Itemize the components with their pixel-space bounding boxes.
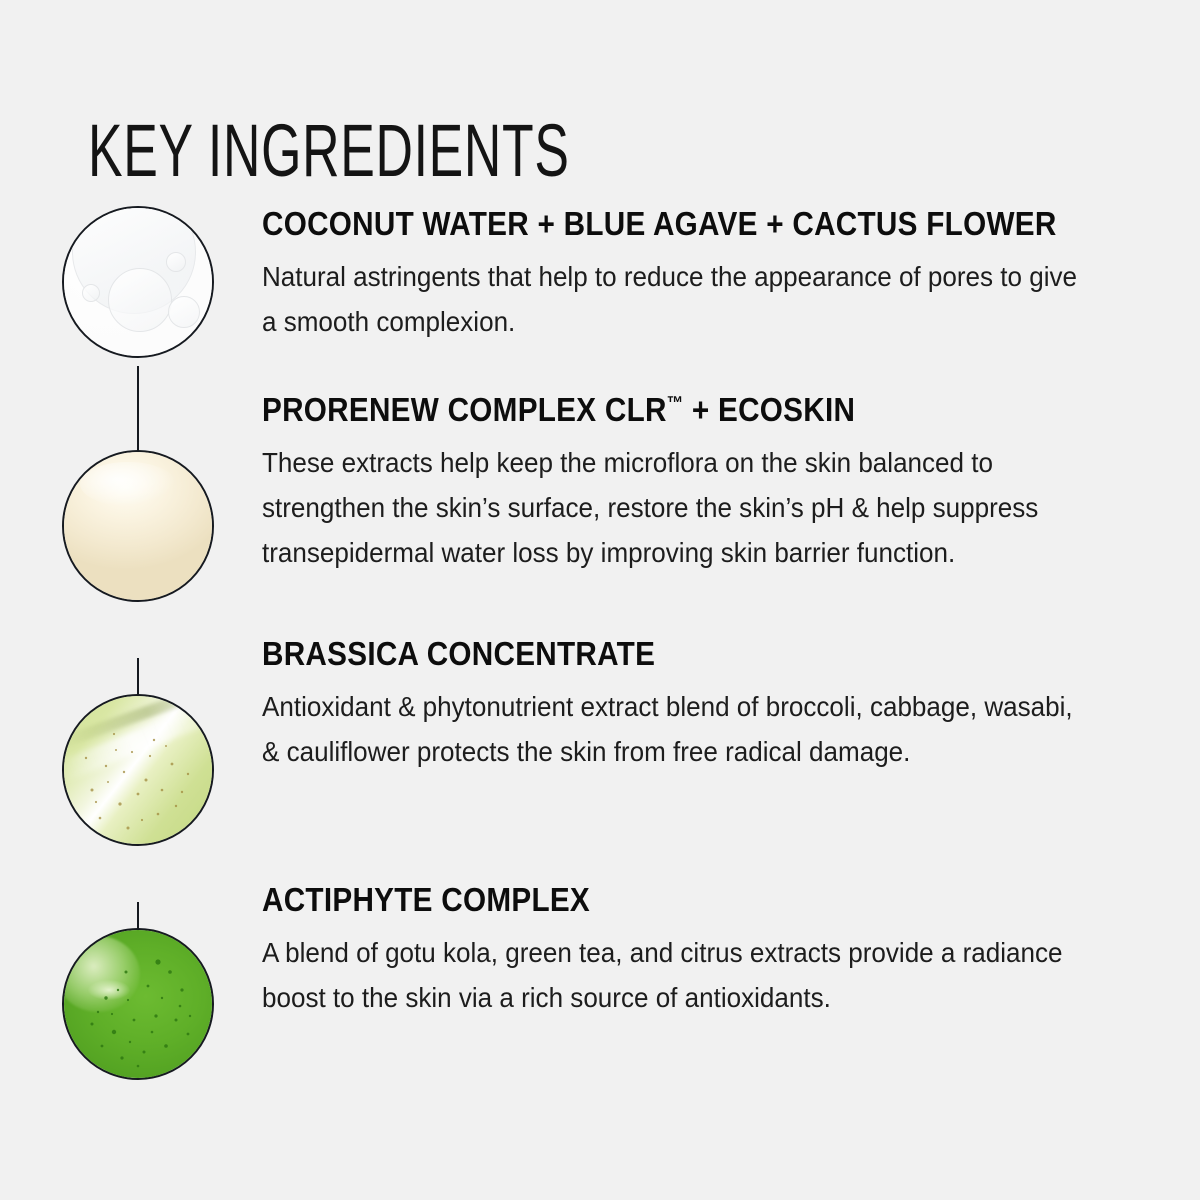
swatch-column xyxy=(0,392,262,602)
ingredient-title-prefix: PRORENEW COMPLEX CLR xyxy=(262,391,667,428)
connector-line xyxy=(137,366,139,462)
swatch-column xyxy=(0,880,262,1080)
trademark-symbol: ™ xyxy=(667,392,684,413)
ingredient-description: Natural astringents that help to reduce … xyxy=(262,254,1083,344)
ingredient-item: BRASSICA CONCENTRATE Antioxidant & phyto… xyxy=(0,636,1200,880)
ingredient-title: ACTIPHYTE COMPLEX xyxy=(262,882,1052,918)
speckle-texture-icon xyxy=(62,694,214,846)
clear-water-gel-swatch xyxy=(62,206,214,358)
text-column: BRASSICA CONCENTRATE Antioxidant & phyto… xyxy=(262,636,1200,774)
ingredient-title: COCONUT WATER + BLUE AGAVE + CACTUS FLOW… xyxy=(262,206,1057,242)
text-column: PRORENEW COMPLEX CLR™ + ECOSKIN These ex… xyxy=(262,392,1200,575)
text-column: COCONUT WATER + BLUE AGAVE + CACTUS FLOW… xyxy=(262,196,1200,344)
gloss-highlight xyxy=(80,462,176,506)
swatch-column xyxy=(0,196,262,358)
bubble-icon xyxy=(168,296,200,328)
cream-lotion-swatch xyxy=(62,450,214,602)
ingredient-item: ACTIPHYTE COMPLEX A blend of gotu kola, … xyxy=(0,880,1200,1080)
text-column: ACTIPHYTE COMPLEX A blend of gotu kola, … xyxy=(262,880,1200,1020)
ingredient-description: These extracts help keep the microflora … xyxy=(262,440,1079,575)
vivid-green-swatch xyxy=(62,928,214,1080)
ingredient-title: BRASSICA CONCENTRATE xyxy=(262,636,1052,672)
bubble-icon xyxy=(166,252,186,272)
ingredient-description: A blend of gotu kola, green tea, and cit… xyxy=(262,930,1079,1020)
ingredient-item: COCONUT WATER + BLUE AGAVE + CACTUS FLOW… xyxy=(0,196,1200,392)
ingredient-title-suffix: + ECOSKIN xyxy=(683,391,855,428)
bubble-icon xyxy=(82,284,100,302)
ingredient-description: Antioxidant & phytonutrient extract blen… xyxy=(262,684,1079,774)
ingredient-item: PRORENEW COMPLEX CLR™ + ECOSKIN These ex… xyxy=(0,392,1200,636)
ingredient-list: COCONUT WATER + BLUE AGAVE + CACTUS FLOW… xyxy=(0,196,1200,1080)
bubble-icon xyxy=(108,268,172,332)
swatch-column xyxy=(0,636,262,846)
key-ingredients-infographic: KEY INGREDIENTS xyxy=(0,0,1200,1200)
ingredient-title: PRORENEW COMPLEX CLR™ + ECOSKIN xyxy=(262,392,1052,428)
light-green-speckled-swatch xyxy=(62,694,214,846)
speckle-texture-icon xyxy=(62,928,214,1080)
page-title: KEY INGREDIENTS xyxy=(88,112,570,190)
